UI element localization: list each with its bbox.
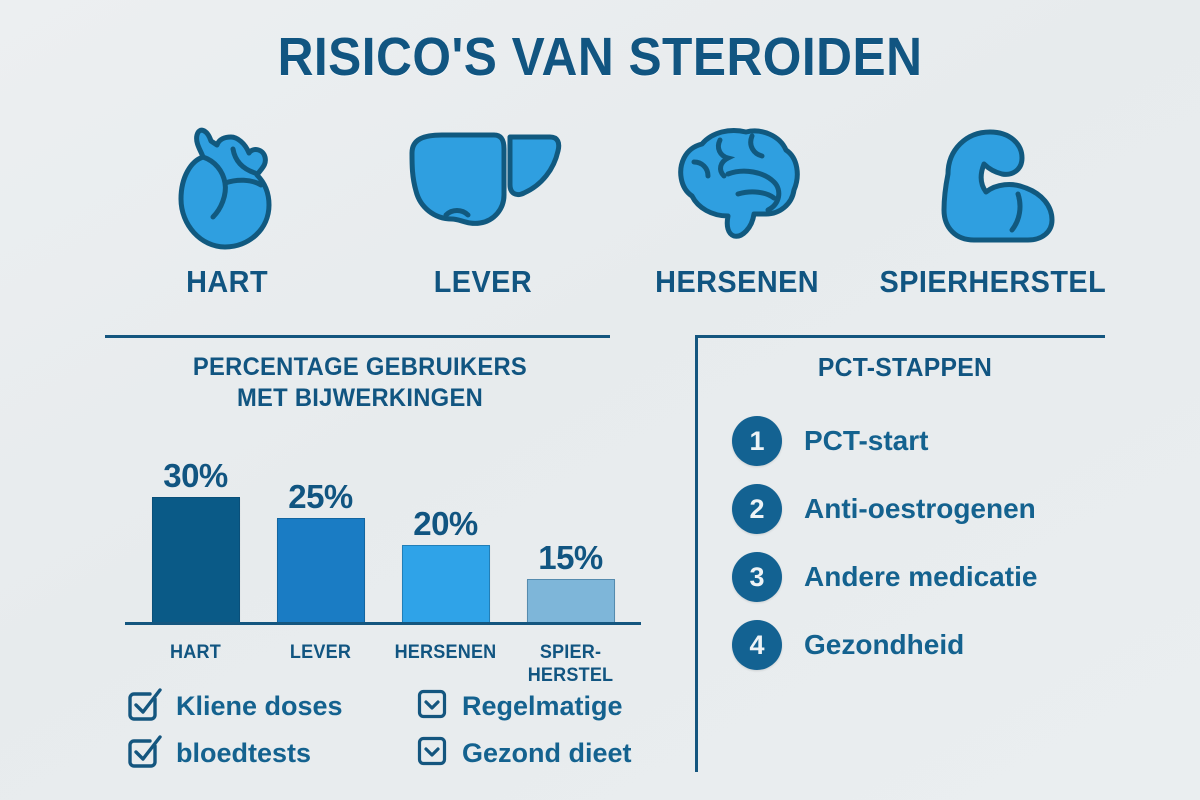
x-tick-lever: LEVER: [261, 641, 380, 689]
bar-value-label: 20%: [413, 505, 478, 543]
bar-rect-hersenen: [402, 545, 490, 623]
checkbox-checked-icon[interactable]: [125, 732, 163, 775]
section-divider-left: [105, 335, 610, 338]
organ-label-liver: LEVER: [433, 264, 531, 300]
organ-label-muscle: SPIERHERSTEL: [879, 264, 1106, 300]
chart-x-tick-labels: HART LEVER HERSENEN SPIER- HERSTEL: [133, 641, 633, 689]
checklist-label: Gezond dieet: [462, 738, 632, 769]
checklist-label: Regelmatige: [462, 691, 623, 722]
pct-step-number: 1: [732, 416, 782, 466]
organ-cell-liver: LEVER: [355, 108, 610, 300]
checklist-label: bloedtests: [176, 738, 311, 769]
bar-rect-spierherstel: [527, 579, 615, 623]
heart-icon: [173, 108, 283, 258]
organ-label-brain: HERSENEN: [656, 264, 820, 300]
bar-rect-lever: [277, 518, 365, 623]
pct-step-label: Andere medicatie: [804, 561, 1037, 593]
bar-group: 30% 25% 20% 15%: [133, 437, 633, 623]
pct-step-1[interactable]: 1 PCT-start: [732, 407, 1110, 475]
bar-value-label: 25%: [288, 478, 353, 516]
pct-step-list: 1 PCT-start 2 Anti-oestrogenen 3 Andere …: [700, 407, 1110, 679]
pct-panel-title: PCT-STAPPEN: [710, 352, 1100, 383]
pct-steps-panel: PCT-STAPPEN 1 PCT-start 2 Anti-oestrogen…: [700, 352, 1110, 679]
organ-cell-muscle: SPIERHERSTEL: [865, 108, 1120, 300]
checkbox-check-small-icon[interactable]: [415, 734, 449, 773]
chart-x-axis: [125, 622, 641, 625]
x-tick-line-1: HERSENEN: [386, 641, 505, 665]
chart-plot-area: 30% 25% 20% 15% H: [105, 437, 650, 635]
page-title: RISICO'S VAN STEROIDEN: [48, 26, 1152, 88]
chart-title-line-1: PERCENTAGE GEBRUIKERS: [118, 352, 603, 383]
pct-step-2[interactable]: 2 Anti-oestrogenen: [732, 475, 1110, 543]
pct-step-4[interactable]: 4 Gezondheid: [732, 611, 1110, 679]
pct-step-label: Anti-oestrogenen: [804, 493, 1036, 525]
infographic-canvas: RISICO'S VAN STEROIDEN HART: [0, 0, 1200, 800]
bar-column-hersenen: 20%: [383, 437, 508, 623]
bar-column-hart: 30%: [133, 437, 258, 623]
organ-cell-brain: HERSENEN: [610, 108, 865, 300]
x-tick-spierherstel: SPIER- HERSTEL: [511, 641, 630, 689]
checklist-item-kliene-doses[interactable]: Kliene doses: [125, 685, 415, 728]
x-tick-line-1: HART: [136, 641, 255, 665]
pct-step-label: Gezondheid: [804, 629, 964, 661]
pct-step-number: 3: [732, 552, 782, 602]
checkbox-check-small-icon[interactable]: [415, 687, 449, 726]
checklist-item-regelmatige[interactable]: Regelmatige: [415, 687, 685, 726]
organ-cell-heart: HART: [100, 108, 355, 300]
muscle-arm-icon: [918, 108, 1068, 258]
bar-column-lever: 25%: [258, 437, 383, 623]
pct-step-number: 4: [732, 620, 782, 670]
brain-icon: [668, 108, 808, 258]
organ-label-heart: HART: [187, 264, 269, 300]
pct-panel-border-top: [695, 335, 1105, 338]
bar-column-spierherstel: 15%: [508, 437, 633, 623]
bar-value-label: 30%: [163, 457, 228, 495]
pct-step-3[interactable]: 3 Andere medicatie: [732, 543, 1110, 611]
x-tick-line-1: SPIER-: [511, 641, 630, 665]
x-tick-line-1: LEVER: [261, 641, 380, 665]
pct-step-label: PCT-start: [804, 425, 928, 457]
x-tick-hart: HART: [136, 641, 255, 689]
checklist-item-gezond-dieet[interactable]: Gezond dieet: [415, 734, 685, 773]
chart-title-line-2: MET BIJWERKINGEN: [118, 383, 603, 414]
chart-title: PERCENTAGE GEBRUIKERS MET BIJWERKINGEN: [118, 352, 603, 415]
checkbox-checked-icon[interactable]: [125, 685, 163, 728]
x-tick-hersenen: HERSENEN: [386, 641, 505, 689]
pct-step-number: 2: [732, 484, 782, 534]
bar-rect-hart: [152, 497, 240, 623]
organ-icon-row: HART LEVER: [100, 108, 1120, 308]
liver-icon: [398, 108, 568, 258]
checklist-label: Kliene doses: [176, 691, 343, 722]
pct-panel-border-left: [695, 335, 698, 772]
bar-value-label: 15%: [538, 539, 603, 577]
checklist-item-bloedtests[interactable]: bloedtests: [125, 732, 415, 775]
bar-chart-section: PERCENTAGE GEBRUIKERS MET BIJWERKINGEN 3…: [105, 352, 685, 635]
recommendations-checklist: Kliene doses Regelmatige bloedtests: [125, 683, 685, 777]
